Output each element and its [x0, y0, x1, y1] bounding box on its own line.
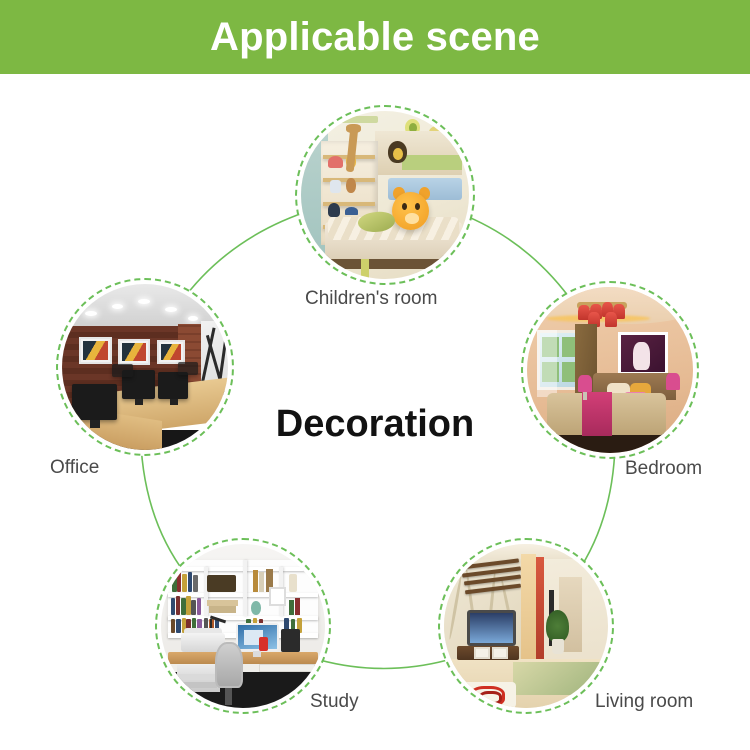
- study-scene: [161, 544, 325, 708]
- office-circle[interactable]: [56, 278, 234, 456]
- office-photo: [62, 284, 228, 450]
- office-label: Office: [50, 458, 99, 477]
- children-room-photo: [301, 111, 469, 279]
- study-circle[interactable]: [155, 538, 331, 714]
- applicable-scene-diagram: Decoration: [0, 74, 750, 750]
- bedroom-photo: [527, 287, 693, 453]
- living-room-circle[interactable]: [438, 538, 614, 714]
- bedroom-circle[interactable]: [521, 281, 699, 459]
- study-label: Study: [310, 692, 359, 711]
- children-room-label: Children's room: [305, 289, 437, 308]
- header-banner: Applicable scene: [0, 0, 750, 74]
- children-room-circle[interactable]: [295, 105, 475, 285]
- bedroom-scene: [527, 287, 693, 453]
- living-room-scene: [444, 544, 608, 708]
- living-room-photo: [444, 544, 608, 708]
- children-room-scene: [301, 111, 469, 279]
- page-title: Applicable scene: [210, 17, 540, 57]
- living-room-label: Living room: [595, 692, 693, 711]
- study-photo: [161, 544, 325, 708]
- office-scene: [62, 284, 228, 450]
- bedroom-label: Bedroom: [625, 459, 702, 478]
